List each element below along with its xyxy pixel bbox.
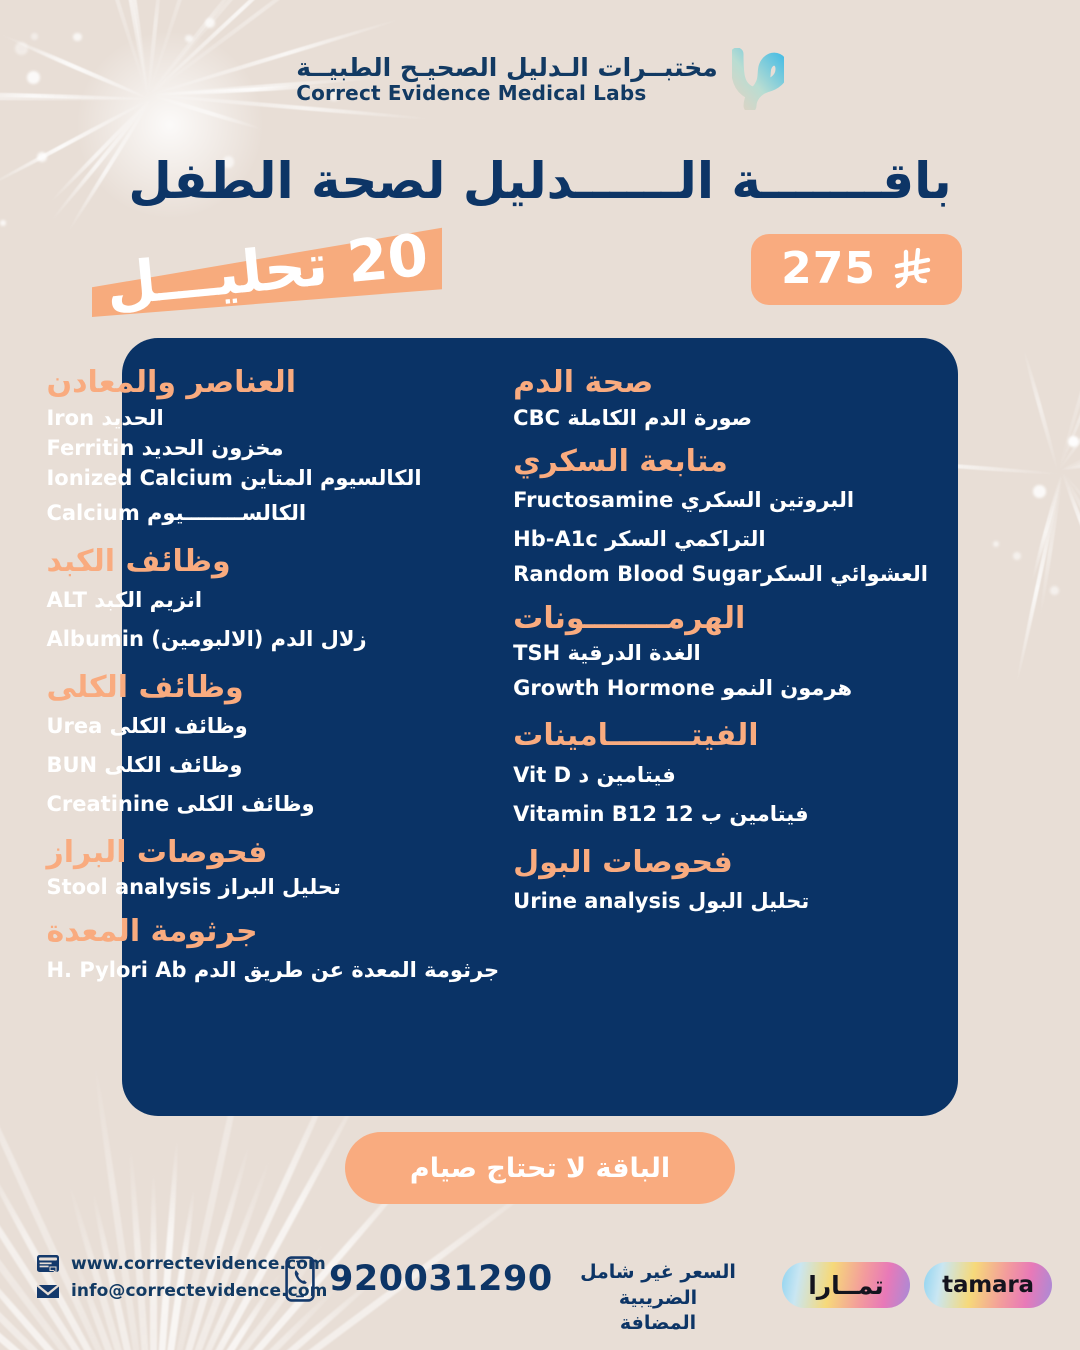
section-heading: وظائف الكلى [46, 669, 243, 707]
contact-block: www.correctevidence.com info@correctevid… [36, 1254, 327, 1301]
tamara-label-en: tamara [942, 1272, 1034, 1298]
test-item: فيتامين ب 12 Vitamin B12 [513, 795, 808, 834]
section-heading: العناصر والمعادن [46, 364, 296, 402]
section-heading: جرثومة المعدة [46, 913, 257, 951]
test-item: الكالسيوم المتاين Ionized Calcium [46, 463, 421, 493]
section-heading: متابعة السكري [513, 443, 728, 481]
brand-name-ar: مختبــرات الـدليل الصحيـح الطبيــة [296, 54, 718, 82]
tamara-logo-ar[interactable]: تمــارا [782, 1262, 910, 1308]
tests-card: صحة الدم صورة الدم الكاملة CBC متابعة ال… [122, 338, 958, 1116]
test-item: هرمون النمو Growth Hormone [513, 669, 852, 708]
payment-logos: تمــارا tamara [782, 1262, 1052, 1308]
brand-name-en: Correct Evidence Medical Labs [296, 82, 646, 104]
test-item: وظائف الكلى Creatinine [46, 785, 314, 824]
fasting-note-badge: الباقة لا تحتاج صيام [345, 1132, 735, 1204]
section-heading: فحوصات البراز [46, 834, 267, 872]
test-item: الكالســــــــيوم Calcium [46, 494, 306, 533]
test-item: التراكمي السكر Hb-A1c [513, 520, 765, 559]
vat-note: السعر غير شامل الضريبية المضافة [578, 1260, 738, 1337]
test-item: انزيم الكبد ALT [46, 581, 202, 620]
test-item: الحديد Iron [46, 403, 163, 433]
droplet-y-mark-icon [732, 48, 784, 110]
section-heading: فحوصات البول [513, 844, 733, 882]
test-item: مخزون الحديد Ferritin [46, 433, 283, 463]
test-item: زلال الدم (الالبومين) Albumin [46, 620, 366, 659]
test-item: وظائف الكلى BUN [46, 746, 242, 785]
phone-block[interactable]: 920031290 [285, 1256, 553, 1302]
website-row[interactable]: www.correctevidence.com [36, 1254, 327, 1274]
footer: www.correctevidence.com info@correctevid… [0, 1248, 1080, 1338]
price-amount: 275 [781, 243, 876, 294]
test-item: جرثومة المعدة عن طريق الدم H. Pylori Ab [46, 951, 499, 990]
browser-window-icon [36, 1254, 60, 1274]
section-heading: وظائف الكبد [46, 543, 230, 581]
section-heading: الفيتــــــــامينات [513, 717, 758, 755]
test-item: وظائف الكلى Urea [46, 707, 247, 746]
mobile-phone-icon [285, 1256, 315, 1302]
test-item: الغدة الدرقية TSH [513, 638, 700, 668]
section-heading: صحة الدم [513, 364, 653, 402]
tests-count-label: 20 تحليـــل [88, 205, 446, 334]
tests-column-left: العناصر والمعادن الحديد Iron مخزون الحدي… [46, 364, 503, 1096]
test-item: تحليل البول Urine analysis [513, 882, 809, 921]
price-badge: 275 [751, 234, 962, 305]
tamara-logo-en[interactable]: tamara [924, 1262, 1052, 1308]
tests-column-right: صحة الدم صورة الدم الكاملة CBC متابعة ال… [503, 364, 928, 1096]
page-title: باقـــــــة الــــــدليل لصحة الطفل [0, 152, 1080, 210]
test-item: العشوائي السكرRandom Blood Sugar [513, 559, 928, 589]
saudi-riyal-symbol-icon [892, 248, 932, 290]
brand-logo: مختبــرات الـدليل الصحيـح الطبيــة Corre… [0, 48, 1080, 110]
envelope-icon [36, 1281, 60, 1301]
tamara-label-ar: تمــارا [808, 1271, 884, 1300]
test-item: فيتامين د Vit D [513, 756, 676, 795]
test-item: تحليل البراز Stool analysis [46, 872, 340, 902]
tests-count-badge: 20 تحليـــل [92, 222, 442, 318]
section-heading: الهرمــــــــونات [513, 600, 745, 638]
phone-number: 920031290 [329, 1259, 553, 1299]
test-item: صورة الدم الكاملة CBC [513, 403, 752, 433]
test-item: البروتين السكري Fructosamine [513, 481, 854, 520]
email-row[interactable]: info@correctevidence.com [36, 1281, 327, 1301]
